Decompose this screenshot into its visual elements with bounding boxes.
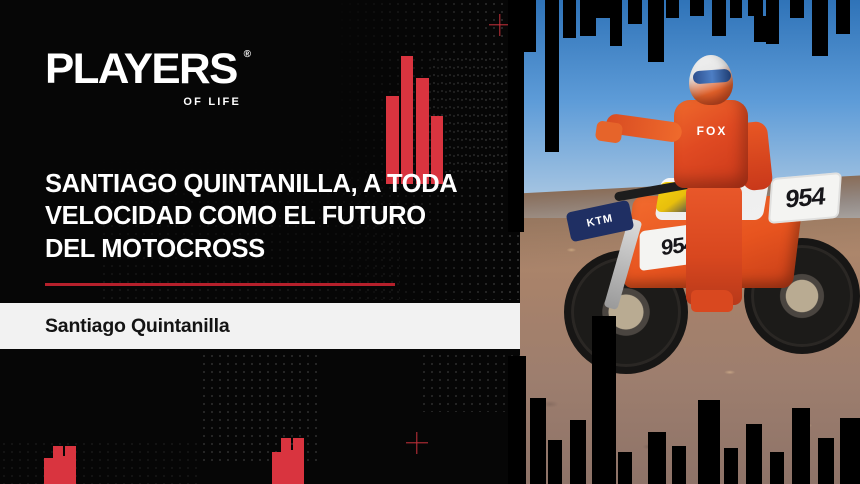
logo-tagline: OF LIFE: [45, 97, 241, 108]
plus-mark-icon: [406, 432, 428, 454]
logo-wordmark: PLAYERS: [45, 48, 245, 91]
page-title: SANTIAGO QUINTANILLA, A TODA VELOCIDAD C…: [45, 168, 465, 265]
byline-name: Santiago Quintanilla: [45, 315, 230, 338]
halftone-dots: [420, 352, 520, 412]
article-hero-card: KTM 954 954 FOX: [0, 0, 860, 484]
helmet-visor: [693, 69, 732, 85]
bike-side-number: 954: [768, 172, 842, 224]
bike-side-number-plate: 954: [768, 172, 842, 224]
red-skyline-glyph-bottom-mid: [272, 434, 306, 484]
registered-trademark-icon: ®: [244, 50, 251, 60]
red-skyline-glyph-top: [386, 56, 446, 184]
rider-glove: [595, 120, 624, 143]
rider-legs: [686, 185, 742, 305]
halftone-dots: [0, 440, 200, 484]
hero-photo: KTM 954 954 FOX: [508, 0, 860, 484]
fox-jersey-label: FOX: [690, 124, 734, 138]
rider-torso: [674, 100, 748, 188]
red-skyline-glyph-bottom-left: [44, 442, 78, 484]
rider-boot: [691, 290, 733, 312]
red-divider-rule: [45, 283, 395, 286]
byline-band: Santiago Quintanilla: [0, 303, 520, 349]
plus-mark-icon: [489, 14, 511, 36]
rider-and-bike: KTM 954 954 FOX: [508, 0, 860, 484]
players-of-life-logo[interactable]: PLAYERS ® OF LIFE: [45, 48, 241, 108]
